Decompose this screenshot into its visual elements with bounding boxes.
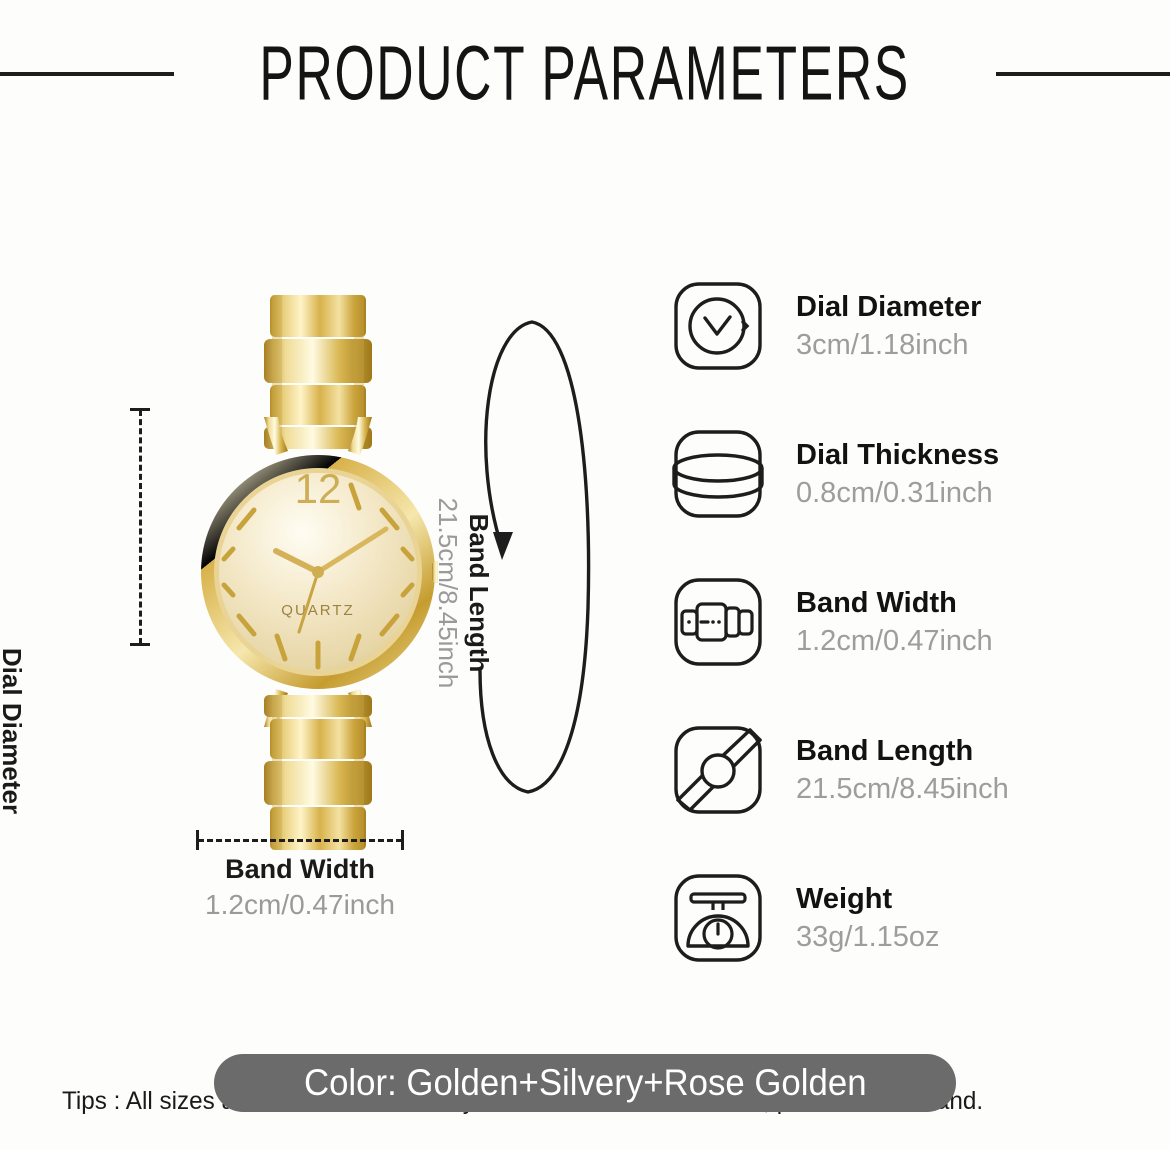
- dimension-cap-bottom: [130, 643, 150, 646]
- spec-row-dial-diameter: Dial Diameter 3cm/1.18inch: [672, 252, 1142, 400]
- dial-numeral-12: 12: [295, 465, 342, 512]
- page-title: PRODUCT PARAMETERS: [248, 30, 921, 118]
- title-rule-right: [996, 72, 1170, 76]
- spec-label: Weight: [796, 880, 1142, 918]
- spec-label: Band Length: [796, 732, 1142, 770]
- dimension-shaft: [139, 410, 142, 644]
- spec-value: 1.2cm/0.47inch: [796, 622, 1142, 660]
- band-width-callout: Band Width 1.2cm/0.47inch: [150, 852, 450, 923]
- spec-value: 0.8cm/0.31inch: [796, 474, 1142, 512]
- spec-value: 21.5cm/8.45inch: [796, 770, 1142, 808]
- specifications-list: Dial Diameter 3cm/1.18inch Dial Thicknes…: [672, 252, 1142, 992]
- product-illustration-area: Dial Diameter 3cm/1.18inch: [0, 240, 650, 960]
- spec-row-band-width: Band Width 1.2cm/0.47inch: [672, 548, 1142, 696]
- spec-value: 3cm/1.18inch: [796, 326, 1142, 364]
- band-length-callout-value: 21.5cm/8.45inch: [433, 428, 464, 758]
- watch-product-image: 12 QUARTZ: [198, 295, 438, 850]
- color-banner: Color: Golden+Silvery+Rose Golden: [214, 1054, 956, 1112]
- band-width-callout-label: Band Width: [150, 852, 450, 887]
- dimension-shaft: [198, 839, 402, 842]
- watch-bracelet-lower: [264, 695, 372, 850]
- spec-row-band-length: Band Length 21.5cm/8.45inch: [672, 696, 1142, 844]
- watch-bracelet-upper: [264, 295, 372, 449]
- spec-label: Dial Diameter: [796, 288, 1142, 326]
- spec-row-weight: Weight 33g/1.15oz: [672, 844, 1142, 992]
- dial-diameter-callout-label: Dial Diameter: [0, 606, 26, 856]
- spec-label: Band Width: [796, 584, 1142, 622]
- color-banner-text: Color: Golden+Silvery+Rose Golden: [304, 1062, 867, 1104]
- dial-brand-text: QUARTZ: [281, 602, 354, 619]
- kitchen-scale-icon: [672, 872, 764, 964]
- title-rule-left: [0, 72, 174, 76]
- spec-value: 33g/1.15oz: [796, 918, 1142, 956]
- band-length-callout-label: Band Length: [463, 428, 494, 758]
- band-width-dimension-line: [196, 830, 404, 850]
- dial-diameter-dimension-line: [130, 408, 150, 646]
- spec-row-dial-thickness: Dial Thickness 0.8cm/0.31inch: [672, 400, 1142, 548]
- dial-diameter-callout: Dial Diameter 3cm/1.18inch: [88, 410, 128, 650]
- band-width-callout-value: 1.2cm/0.47inch: [150, 887, 450, 923]
- watch-strap-diagonal-icon: [672, 724, 764, 816]
- spec-label: Dial Thickness: [796, 436, 1142, 474]
- watch-dial-icon: [672, 280, 764, 372]
- page-title-bar: PRODUCT PARAMETERS: [0, 34, 1170, 114]
- watch-buckle-icon: [672, 576, 764, 668]
- dimension-cap-right: [401, 830, 404, 850]
- band-length-callout: Band Length 21.5cm/8.45inch: [433, 428, 494, 758]
- disc-thickness-icon: [672, 428, 764, 520]
